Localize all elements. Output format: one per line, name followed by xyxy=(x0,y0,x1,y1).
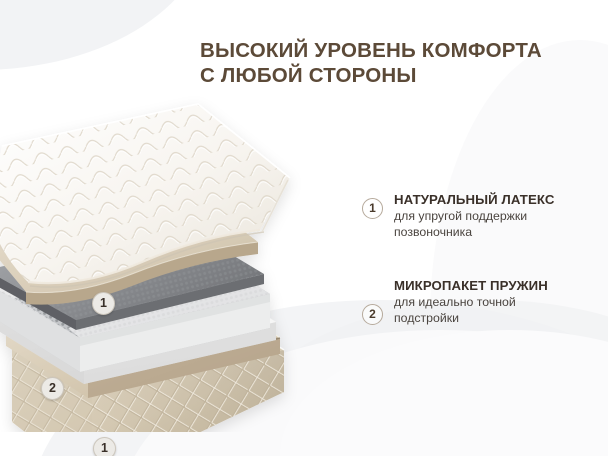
background-arc-top-left xyxy=(0,0,210,70)
image-callout-2-springs: 2 xyxy=(41,377,64,400)
feature-legend: 1 НАТУРАЛЬНЫЙ ЛАТЕКС для упругой поддерж… xyxy=(362,192,602,364)
page-title: ВЫСОКИЙ УРОВЕНЬ КОМФОРТА С ЛЮБОЙ СТОРОНЫ xyxy=(200,38,600,88)
legend-description-springs-line2: подстройки xyxy=(394,311,602,327)
image-callout-1-bottom: 1 xyxy=(93,437,116,456)
legend-item-latex: 1 НАТУРАЛЬНЫЙ ЛАТЕКС для упругой поддерж… xyxy=(362,192,602,240)
legend-heading-latex: НАТУРАЛЬНЫЙ ЛАТЕКС xyxy=(394,192,602,208)
legend-description-latex-line1: для упругой поддержки xyxy=(394,209,602,225)
legend-heading-springs: МИКРОПАКЕТ ПРУЖИН xyxy=(394,278,602,294)
legend-item-springs: 2 МИКРОПАКЕТ ПРУЖИН для идеально точной … xyxy=(362,278,602,326)
image-callout-1-top: 1 xyxy=(92,292,115,315)
legend-badge-1: 1 xyxy=(362,198,383,219)
legend-description-latex-line2: позвоночника xyxy=(394,225,602,241)
promo-banner: ВЫСОКИЙ УРОВЕНЬ КОМФОРТА С ЛЮБОЙ СТОРОНЫ xyxy=(0,0,608,456)
title-line-2: С ЛЮБОЙ СТОРОНЫ xyxy=(200,63,600,88)
legend-description-springs-line1: для идеально точной xyxy=(394,295,602,311)
legend-badge-2: 2 xyxy=(362,304,383,325)
title-line-1: ВЫСОКИЙ УРОВЕНЬ КОМФОРТА xyxy=(200,39,542,62)
layer-quilted-cover xyxy=(0,104,290,287)
mattress-illustration: 1 2 1 xyxy=(0,92,342,432)
